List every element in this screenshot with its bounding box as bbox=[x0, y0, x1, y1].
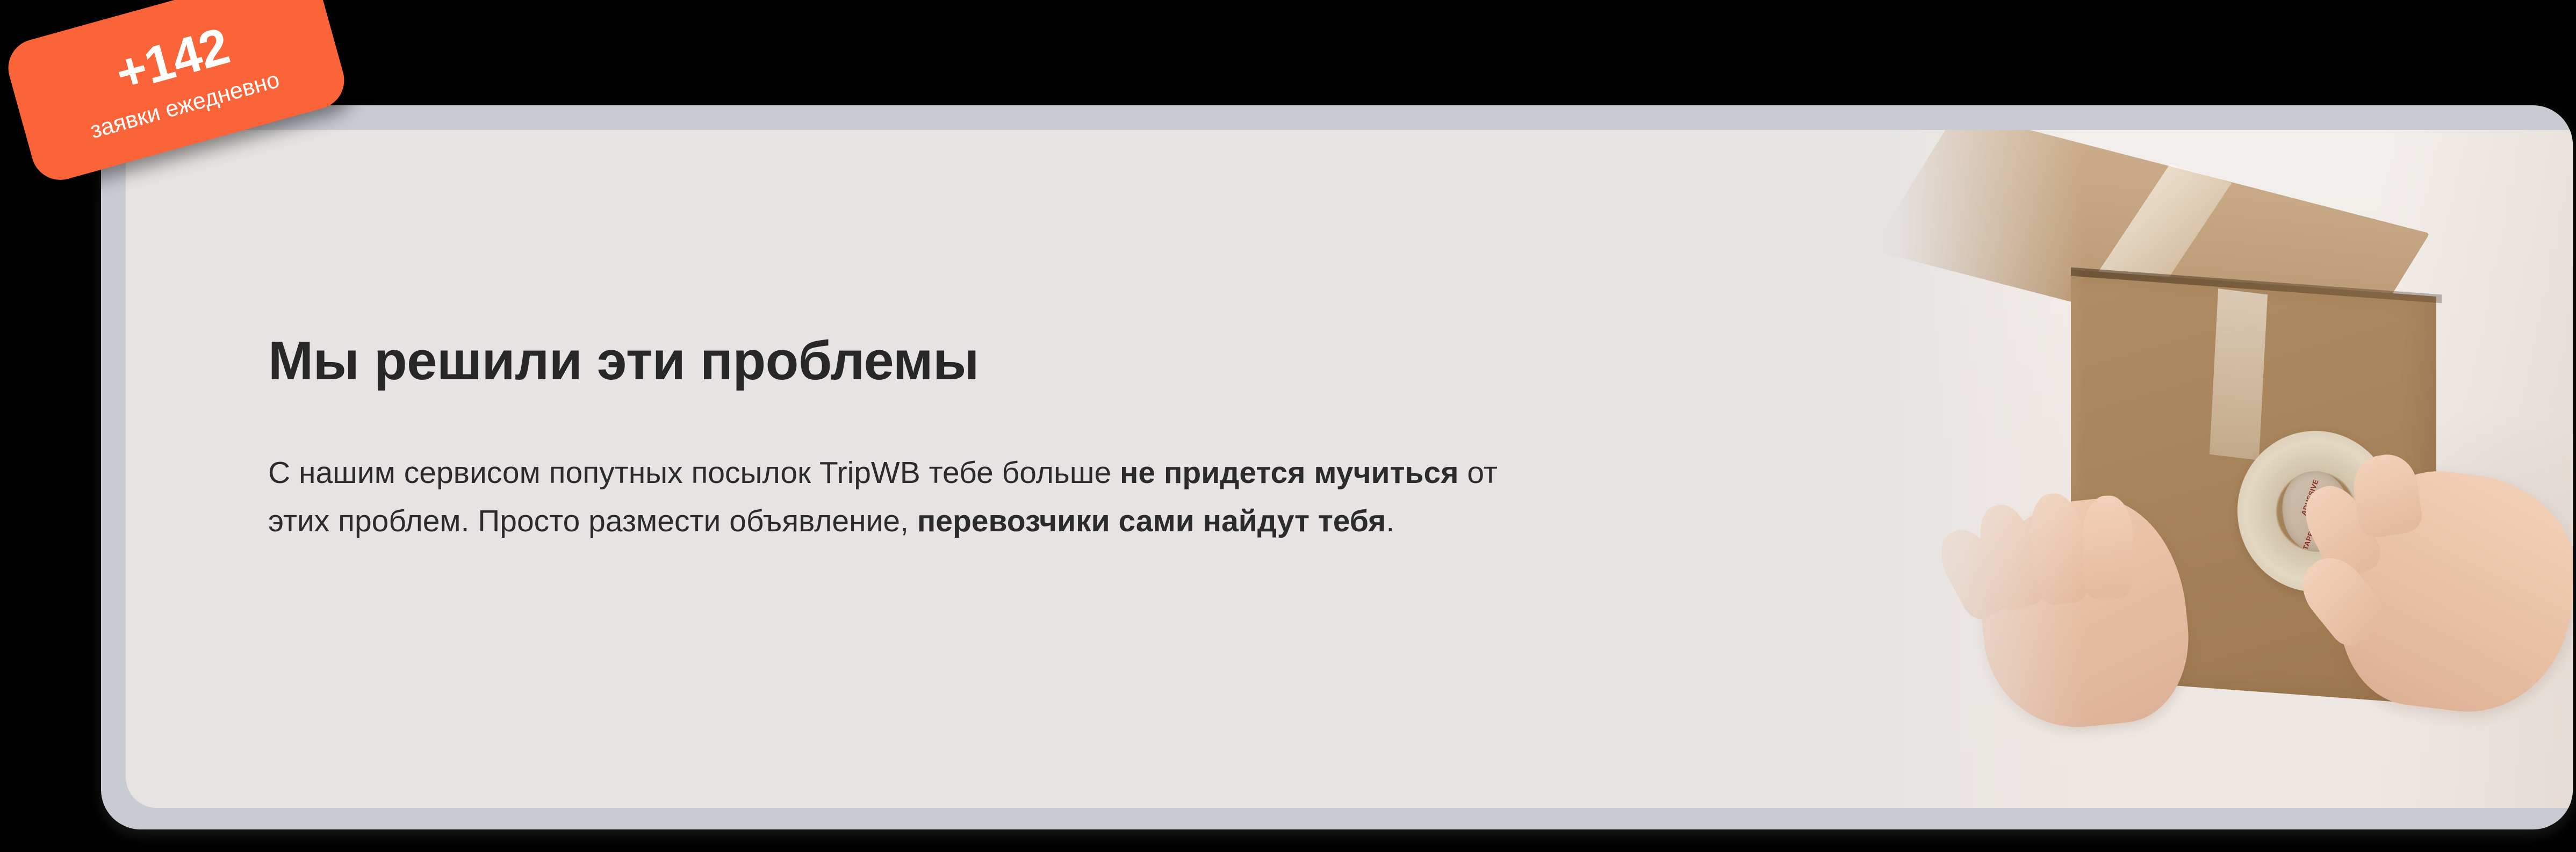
description-part-1: С нашим сервисом попутных посылок TripWB… bbox=[268, 456, 1120, 490]
promo-text-block: Мы решили эти проблемы С нашим сервисом … bbox=[268, 334, 1585, 545]
photo-left-fade bbox=[1858, 130, 2084, 808]
promo-card: ADHESIVE TAPE Мы решили эти проблемы С н… bbox=[101, 105, 2573, 829]
description-part-3: . bbox=[1386, 504, 1394, 538]
description-bold-1: не придется мучиться bbox=[1120, 456, 1459, 490]
finger bbox=[2082, 496, 2133, 599]
tape-strip-front bbox=[2210, 288, 2268, 460]
package-taping-photo: ADHESIVE TAPE bbox=[1858, 130, 2573, 808]
screenshot-stage: ADHESIVE TAPE Мы решили эти проблемы С н… bbox=[0, 0, 2576, 852]
promo-description: С нашим сервисом попутных посылок TripWB… bbox=[268, 449, 1558, 545]
description-bold-2: перевозчики сами найдут тебя bbox=[917, 504, 1386, 538]
page-title: Мы решили эти проблемы bbox=[268, 334, 1585, 388]
promo-card-inner: ADHESIVE TAPE Мы решили эти проблемы С н… bbox=[126, 130, 2573, 808]
